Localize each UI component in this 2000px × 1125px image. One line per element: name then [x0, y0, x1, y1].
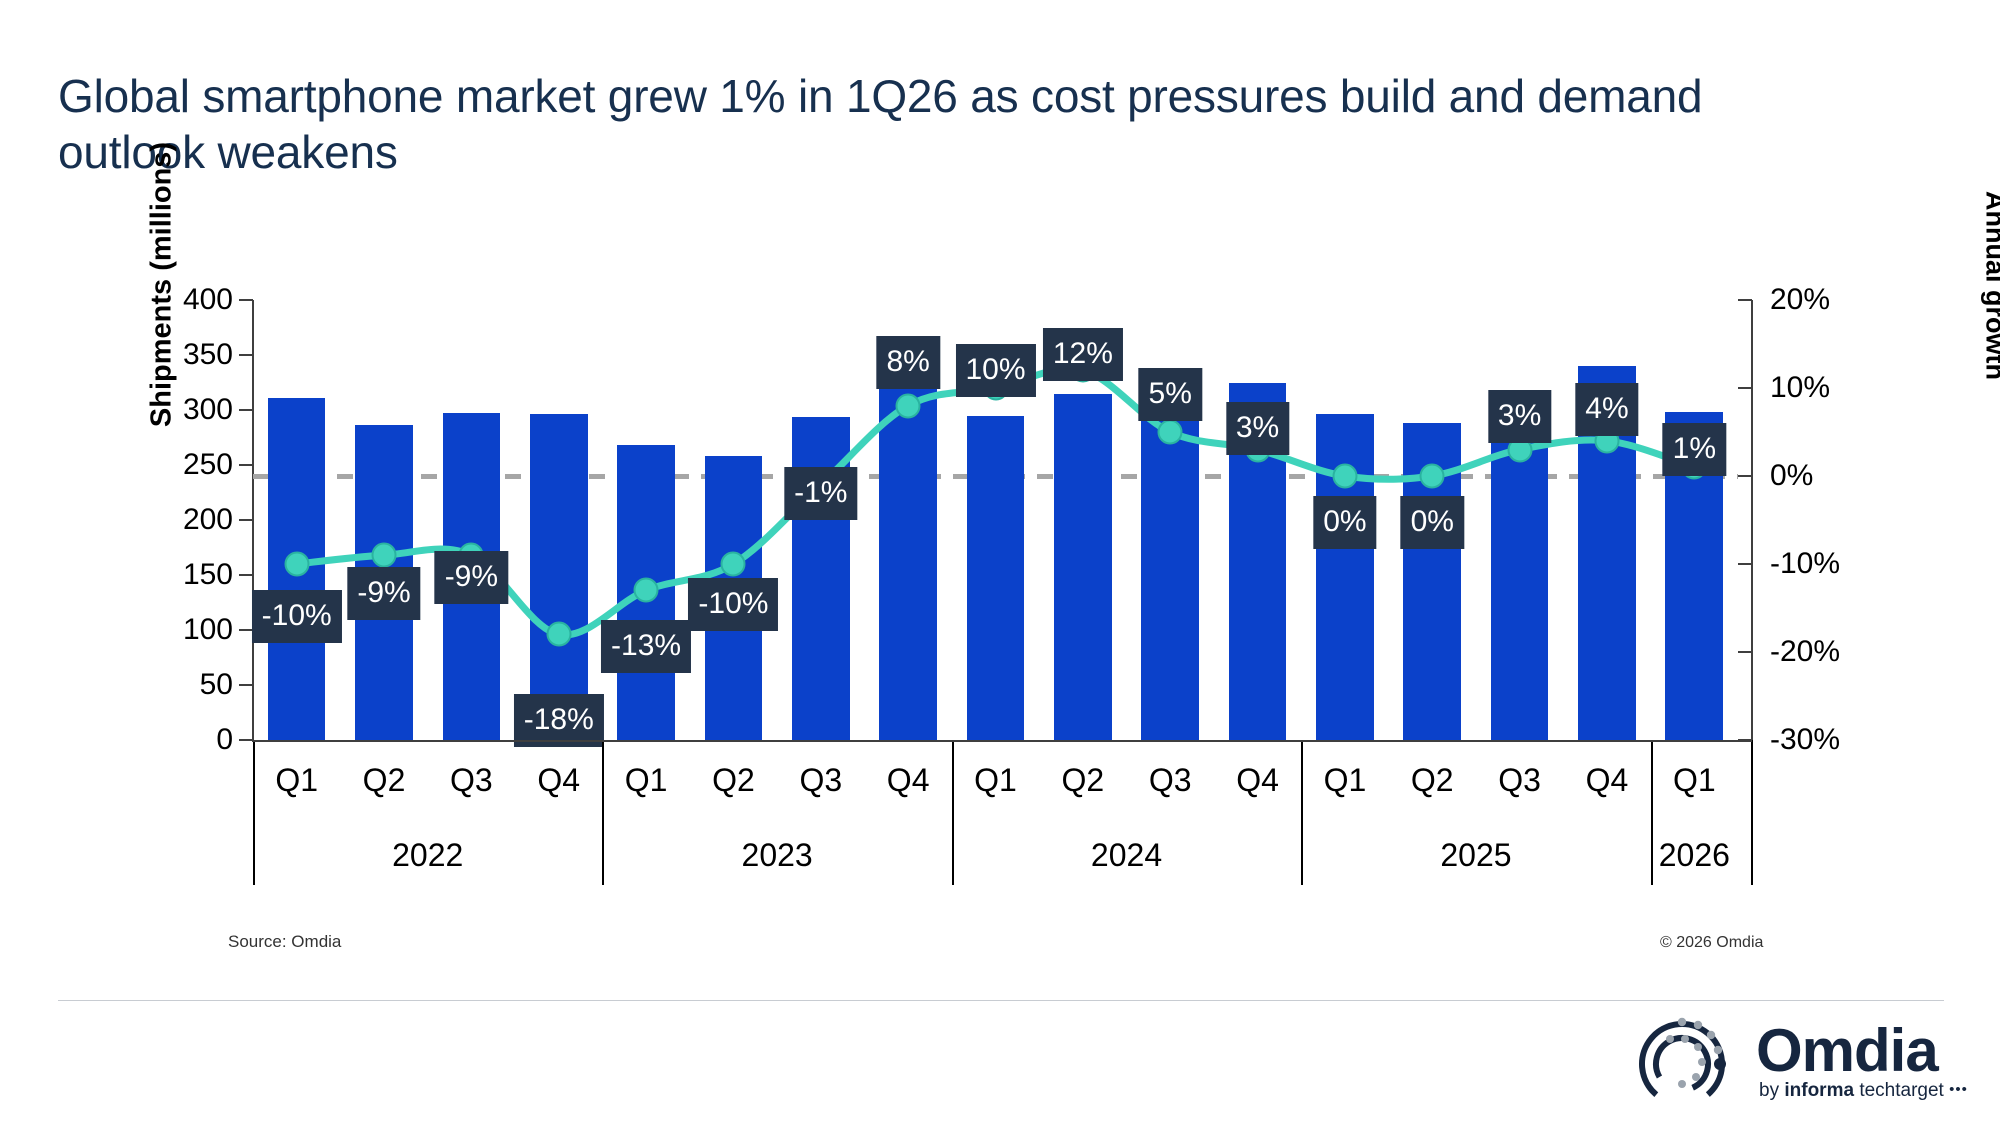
- x-axis-group-separator: [602, 740, 604, 885]
- x-tick-quarter: Q2: [363, 762, 406, 799]
- omdia-wordmark: Omdia: [1756, 1016, 1938, 1085]
- growth-label-q2-2023: -10%: [688, 578, 778, 631]
- x-tick-quarter: Q3: [1498, 762, 1541, 799]
- y-right-tick-label: 20%: [1770, 283, 1880, 317]
- growth-point-q3-2024[interactable]: [1158, 420, 1183, 445]
- y-right-tick-label: 10%: [1770, 371, 1880, 405]
- growth-label-q4-2024: 3%: [1226, 402, 1289, 455]
- growth-point-q1-2023[interactable]: [634, 578, 659, 603]
- y-left-tick-label: 100: [143, 613, 233, 647]
- x-axis-group-separator: [952, 740, 954, 885]
- y-right-tickmark: [1738, 475, 1752, 477]
- tagline-dots: •••: [1949, 1081, 1968, 1098]
- x-tick-quarter: Q1: [275, 762, 318, 799]
- growth-label-q4-2025: 4%: [1575, 383, 1638, 436]
- y-left-tick-label: 150: [143, 558, 233, 592]
- x-tick-quarter: Q1: [625, 762, 668, 799]
- tagline-techtarget: techtarget: [1854, 1080, 1944, 1101]
- x-tick-quarter: Q4: [887, 762, 930, 799]
- growth-label-q1-2026: 1%: [1663, 423, 1726, 476]
- y-left-tickmark: [239, 464, 253, 466]
- copyright-note: © 2026 Omdia: [1660, 934, 1763, 952]
- x-axis-group-separator: [253, 740, 255, 885]
- x-tick-quarter: Q4: [1586, 762, 1629, 799]
- y-right-tick-label: -30%: [1770, 723, 1880, 757]
- y-left-tickmark: [239, 684, 253, 686]
- growth-label-q3-2025: 3%: [1488, 390, 1551, 443]
- growth-label-q2-2024: 12%: [1043, 328, 1123, 381]
- omdia-logo: Omdia by informa techtarget •••: [1630, 1012, 1960, 1112]
- x-tick-quarter: Q2: [1411, 762, 1454, 799]
- x-tick-quarter: Q2: [712, 762, 755, 799]
- omdia-tagline: by informa techtarget •••: [1759, 1080, 1968, 1102]
- plot-area: -10%-9%-9%-18%-13%-10%-1%8%10%12%5%3%0%0…: [253, 300, 1738, 740]
- x-tick-quarter: Q3: [1149, 762, 1192, 799]
- growth-label-q1-2024: 10%: [955, 344, 1035, 397]
- growth-label-q1-2022: -10%: [252, 590, 342, 643]
- chart-canvas: Shipments (millions) Annual growth 05010…: [0, 0, 2000, 1125]
- footer-divider: [58, 1000, 1944, 1001]
- x-tick-quarter: Q2: [1062, 762, 1105, 799]
- growth-label-q3-2023: -1%: [784, 467, 857, 520]
- y-left-tick-label: 300: [143, 393, 233, 427]
- x-tick-quarter: Q1: [974, 762, 1017, 799]
- tagline-informa: informa: [1784, 1080, 1854, 1101]
- x-tick-quarter: Q4: [537, 762, 580, 799]
- x-axis-baseline: [252, 740, 1752, 742]
- growth-label-q3-2024: 5%: [1139, 368, 1202, 421]
- y-left-tickmark: [239, 519, 253, 521]
- y-right-tick-label: -20%: [1770, 635, 1880, 669]
- x-tick-quarter: Q1: [1673, 762, 1716, 799]
- y-right-tickmark: [1738, 563, 1752, 565]
- y-left-tickmark: [239, 574, 253, 576]
- growth-point-q1-2025[interactable]: [1332, 464, 1357, 489]
- x-axis-year-label: 2022: [392, 837, 463, 874]
- y-left-tick-label: 400: [143, 283, 233, 317]
- source-note: Source: Omdia: [228, 932, 341, 952]
- y-left-tickmark: [239, 409, 253, 411]
- growth-label-q2-2025: 0%: [1401, 496, 1464, 549]
- growth-point-q4-2023[interactable]: [896, 393, 921, 418]
- y-axis-right-spine: [1751, 300, 1753, 740]
- y-left-tick-label: 200: [143, 503, 233, 537]
- x-tick-quarter: Q3: [450, 762, 493, 799]
- y-right-tick-label: -10%: [1770, 547, 1880, 581]
- y-right-tickmark: [1738, 387, 1752, 389]
- x-axis-year-label: 2024: [1091, 837, 1162, 874]
- x-tick-quarter: Q1: [1324, 762, 1367, 799]
- x-axis-year-label: 2023: [742, 837, 813, 874]
- y-axis-right-title: Annual growth: [1980, 86, 2000, 486]
- y-left-tick-label: 350: [143, 338, 233, 372]
- growth-label-q4-2023: 8%: [876, 336, 939, 389]
- y-left-tick-label: 0: [143, 723, 233, 757]
- omdia-mark-icon: [1630, 1012, 1740, 1112]
- y-left-tick-label: 250: [143, 448, 233, 482]
- x-axis-group-separator: [1301, 740, 1303, 885]
- x-axis-end-separator: [1751, 740, 1753, 885]
- y-right-tick-label: 0%: [1770, 459, 1880, 493]
- growth-label-q3-2022: -9%: [435, 551, 508, 604]
- y-left-tickmark: [239, 354, 253, 356]
- growth-point-q4-2022[interactable]: [546, 622, 571, 647]
- growth-label-q1-2025: 0%: [1313, 496, 1376, 549]
- growth-label-q2-2022: -9%: [347, 567, 420, 620]
- x-tick-quarter: Q4: [1236, 762, 1279, 799]
- y-left-tickmark: [239, 739, 253, 741]
- growth-point-q2-2023[interactable]: [721, 552, 746, 577]
- y-left-tick-label: 50: [143, 668, 233, 702]
- tagline-by: by: [1759, 1080, 1784, 1101]
- x-tick-quarter: Q3: [799, 762, 842, 799]
- x-axis-year-label: 2025: [1440, 837, 1511, 874]
- growth-point-q2-2025[interactable]: [1420, 464, 1445, 489]
- growth-point-q2-2022[interactable]: [372, 543, 397, 568]
- x-axis-group-separator: [1651, 740, 1653, 885]
- y-left-tickmark: [239, 299, 253, 301]
- y-right-tickmark: [1738, 299, 1752, 301]
- x-axis-year-label: 2026: [1659, 837, 1730, 874]
- y-right-tickmark: [1738, 651, 1752, 653]
- growth-label-q1-2023: -13%: [601, 620, 691, 673]
- growth-point-q1-2022[interactable]: [284, 552, 309, 577]
